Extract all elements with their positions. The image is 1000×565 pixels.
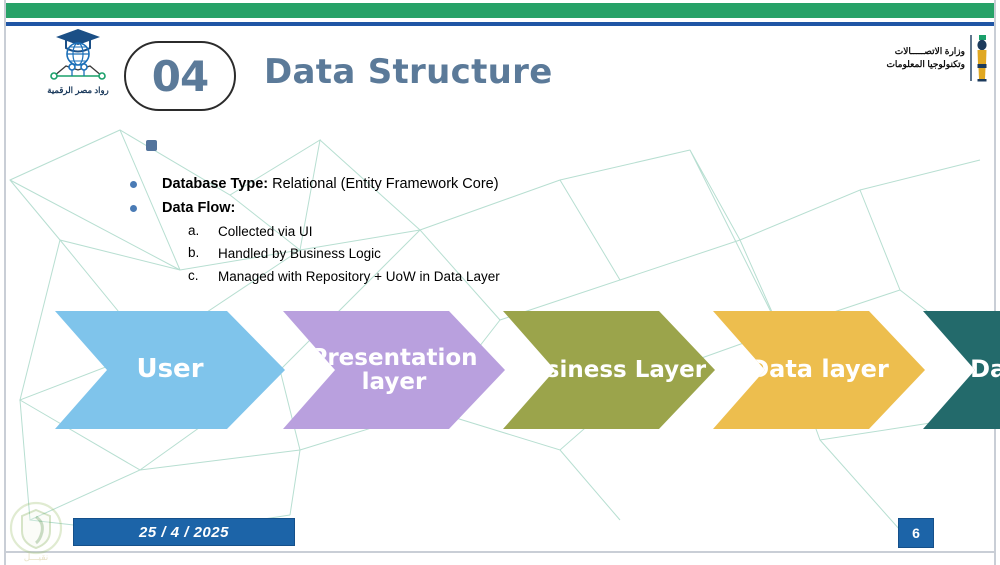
left-logo: رواد مصر الرقمية <box>38 26 118 104</box>
slide-number-text: 04 <box>152 52 208 101</box>
top-blue-line <box>6 22 994 26</box>
ministry-line-2: وتكنولوجيا المعلومات <box>886 58 965 71</box>
empty-bullet-marker <box>146 140 157 151</box>
process-step-5: Database <box>923 311 1000 429</box>
process-step-1: User <box>55 311 285 429</box>
sub-list-item: c. Managed with Repository + UoW in Data… <box>188 268 750 287</box>
process-step-5-label: Database <box>964 357 1000 382</box>
process-step-2-label: Presentation layer <box>283 346 505 394</box>
svg-text:نقيـــل: نقيـــل <box>24 553 49 562</box>
frame-bottom-edge <box>4 551 994 553</box>
process-step-4-label: Data layer <box>743 357 895 382</box>
sub-list-item: a. Collected via UI <box>188 223 750 242</box>
right-logo: وزارة الاتصـــــالات وتكنولوجيا المعلوما… <box>866 30 990 86</box>
bullet-dot-icon <box>130 205 137 212</box>
ministry-line-1: وزارة الاتصـــــالات <box>886 45 965 58</box>
process-step-4: Data layer <box>713 311 925 429</box>
bullet-label: Database Type: <box>162 176 268 192</box>
top-green-band <box>6 3 994 18</box>
left-logo-caption: رواد مصر الرقمية <box>38 85 118 96</box>
page-number-text: 6 <box>912 525 920 541</box>
process-step-3-label: Business Layer <box>506 358 712 382</box>
bullet-text: Data Flow: <box>162 198 235 219</box>
bullet-value: Relational (Entity Framework Core) <box>268 176 498 192</box>
process-step-2: Presentation layer <box>283 311 505 429</box>
frame-left-edge <box>4 0 6 565</box>
process-step-1-label: User <box>130 356 209 383</box>
sub-item-marker: c. <box>188 268 218 283</box>
sub-item-text: Handled by Business Logic <box>218 245 381 264</box>
date-banner: 25 / 4 / 2025 <box>73 518 295 546</box>
page-title: Data Structure <box>264 52 553 92</box>
process-flow-diagram: User Presentation layer Business Layer D… <box>55 311 950 429</box>
bullet-list: Database Type: Relational (Entity Framew… <box>130 174 750 290</box>
sub-item-text: Managed with Repository + UoW in Data La… <box>218 268 500 287</box>
sub-list-item: b. Handled by Business Logic <box>188 245 750 264</box>
sub-list: a. Collected via UI b. Handled by Busine… <box>188 223 750 287</box>
list-item: Data Flow: <box>130 198 750 219</box>
ministry-name: وزارة الاتصـــــالات وتكنولوجيا المعلوما… <box>886 45 965 71</box>
ministry-pharaoh-logo <box>968 33 990 83</box>
sub-item-marker: b. <box>188 245 218 260</box>
bullet-dot-icon <box>130 181 137 188</box>
bullet-label: Data Flow: <box>162 200 235 216</box>
sub-item-marker: a. <box>188 223 218 238</box>
date-text: 25 / 4 / 2025 <box>139 524 229 541</box>
sub-item-text: Collected via UI <box>218 223 313 242</box>
slide: رواد مصر الرقمية 04 Data Structure وزارة… <box>0 0 1000 565</box>
process-step-3: Business Layer <box>503 311 715 429</box>
page-number-box: 6 <box>898 518 934 548</box>
slide-number-badge: 04 <box>124 41 236 111</box>
list-item: Database Type: Relational (Entity Framew… <box>130 174 750 195</box>
graduation-globe-logo <box>46 26 110 84</box>
frame-right-edge <box>994 0 996 565</box>
bullet-text: Database Type: Relational (Entity Framew… <box>162 174 499 195</box>
